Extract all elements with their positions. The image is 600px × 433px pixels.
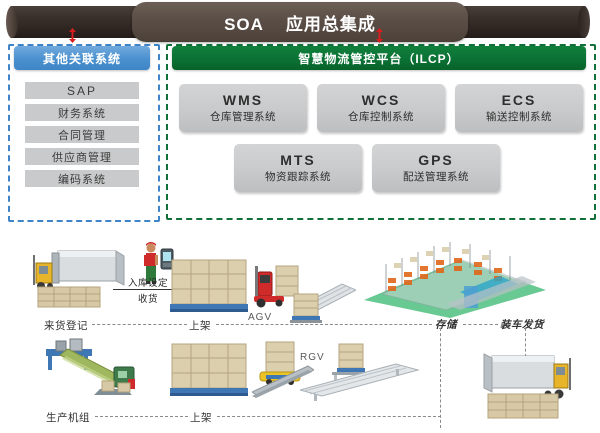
list-item-supplier[interactable]: 供应商管理 [25,148,139,165]
ilcp-container [166,44,596,220]
card-name: 物资跟踪系统 [265,170,331,185]
card-code: GPS [418,151,454,170]
diagram-canvas: SOA应用总集成 其他关联系统 智慧物流管控平台（ILCP） SAP 财务系统 [0,0,600,433]
stage-label-inbound-register: 来货登记 [44,318,88,333]
list-item-label: 财务系统 [58,105,106,121]
ilcp-cards-row-1: WMS 仓库管理系统 WCS 仓库控制系统 ECS 输送控制系统 [179,84,583,132]
card-name: 仓库控制系统 [348,110,414,125]
logistics-process-illustration: 入库设定 收货 [0,230,600,433]
conveyor-scene-2 [300,362,420,402]
card-wcs[interactable]: WCS 仓库控制系统 [317,84,445,132]
card-name: 配送管理系统 [403,170,469,185]
flowline-r1-a [92,324,187,325]
production-line-scene [40,335,150,399]
list-item-coding[interactable]: 编码系统 [25,170,139,187]
flowline-r1-c [463,324,498,325]
soa-title-plate: SOA应用总集成 [132,2,468,42]
double-arrow-vertical-icon-right [375,28,384,43]
list-item-label: SAP [67,84,97,98]
card-code: ECS [502,91,537,110]
other-systems-list: SAP 财务系统 合同管理 供应商管理 编码系统 [25,82,139,192]
agv-tag: AGV [248,312,272,323]
list-item-contract[interactable]: 合同管理 [25,126,139,143]
ilcp-cards-row-2: MTS 物资跟踪系统 GPS 配送管理系统 [234,144,500,192]
stage-label-putaway-1: 上架 [189,318,211,333]
flowline-r2-a [95,416,188,417]
stage-label-storage: 存储 [435,317,457,332]
vline-storage [440,328,441,428]
ilcp-header: 智慧物流管控平台（ILCP） [172,46,586,70]
card-gps[interactable]: GPS 配送管理系统 [372,144,500,192]
soa-title-latin: SOA [224,15,264,34]
list-item-finance[interactable]: 财务系统 [25,104,139,121]
card-ecs[interactable]: ECS 输送控制系统 [455,84,583,132]
soa-banner: SOA应用总集成 [0,2,600,42]
asrs-warehouse-scene [350,238,550,322]
list-item-label: 合同管理 [58,127,106,143]
outbound-truck-scene [468,352,578,424]
card-code: WCS [362,91,401,110]
list-item-label: 供应商管理 [52,149,112,165]
ilcp-header-label: 智慧物流管控平台（ILCP） [298,50,459,67]
stage-label-putaway-2: 上架 [190,410,212,425]
flowline-r2-b [217,416,441,417]
card-name: 输送控制系统 [486,110,552,125]
card-mts[interactable]: MTS 物资跟踪系统 [234,144,362,192]
double-arrow-vertical-icon-left [68,28,77,43]
banner-cap-right [578,6,590,38]
card-code: MTS [280,151,316,170]
card-code: WMS [223,91,263,110]
list-item-label: 编码系统 [58,171,106,187]
pallet-stack-scene-1 [170,258,248,312]
list-item-sap[interactable]: SAP [25,82,139,99]
card-name: 仓库管理系统 [210,110,276,125]
other-systems-header-label: 其他关联系统 [43,50,121,67]
other-systems-header: 其他关联系统 [14,46,150,70]
pallet-stack-scene-2 [170,342,248,396]
banner-cap-left [6,6,18,38]
flowline-r1-b [216,324,432,325]
stage-label-load-ship: 装车发货 [500,317,544,332]
card-wms[interactable]: WMS 仓库管理系统 [179,84,307,132]
banner-pipe-right [452,6,588,38]
soa-title-cn: 应用总集成 [286,15,376,34]
stage-label-production-line: 生产机组 [46,410,90,425]
shuttle-pallet-scene [288,292,328,326]
soa-title: SOA应用总集成 [224,10,376,35]
